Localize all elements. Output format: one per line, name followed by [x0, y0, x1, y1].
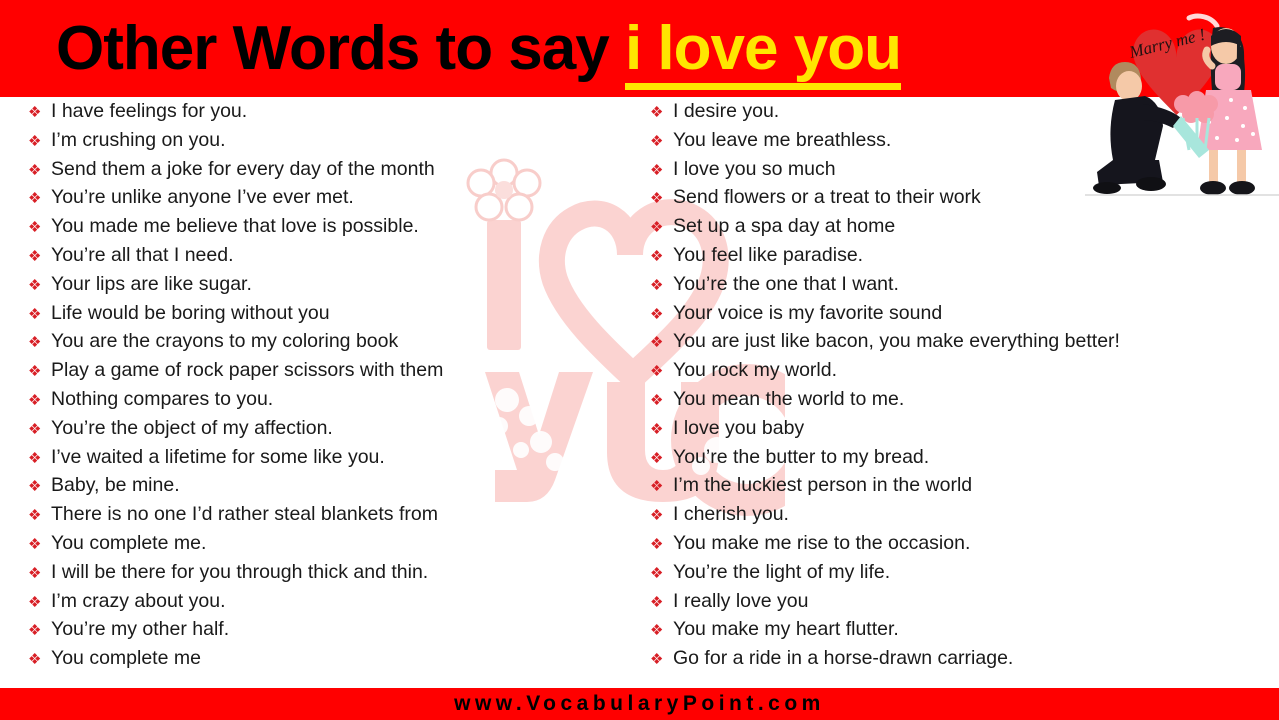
list-item-label: You make me rise to the occasion. [673, 529, 970, 558]
diamond-bullet-icon: ❖ [650, 185, 673, 214]
diamond-bullet-icon: ❖ [650, 99, 673, 128]
list-item-label: I have feelings for you. [51, 97, 247, 126]
list-item[interactable]: ❖You feel like paradise. [650, 241, 1270, 270]
list-item[interactable]: ❖Your voice is my favorite sound [650, 299, 1270, 328]
list-item-label: You are just like bacon, you make everyt… [673, 327, 1120, 356]
diamond-bullet-icon: ❖ [28, 646, 51, 675]
list-item-label: I desire you. [673, 97, 779, 126]
diamond-bullet-icon: ❖ [28, 473, 51, 502]
right-column: ❖I desire you. ❖You leave me breathless.… [650, 97, 1270, 673]
diamond-bullet-icon: ❖ [650, 214, 673, 243]
diamond-bullet-icon: ❖ [650, 473, 673, 502]
list-item-label: There is no one I’d rather steal blanket… [51, 500, 438, 529]
list-item[interactable]: ❖Send flowers or a treat to their work [650, 183, 1270, 212]
list-item-label: You make my heart flutter. [673, 615, 899, 644]
list-item-label: You’re the butter to my bread. [673, 443, 929, 472]
list-item[interactable]: ❖You’re the one that I want. [650, 270, 1270, 299]
list-item[interactable]: ❖I’m crushing on you. [28, 126, 628, 155]
list-item-label: Nothing compares to you. [51, 385, 273, 414]
list-item-label: You’re all that I need. [51, 241, 234, 270]
diamond-bullet-icon: ❖ [650, 243, 673, 272]
list-item[interactable]: ❖I have feelings for you. [28, 97, 628, 126]
list-item[interactable]: ❖Baby, be mine. [28, 471, 628, 500]
list-item[interactable]: ❖You complete me. [28, 529, 628, 558]
diamond-bullet-icon: ❖ [28, 243, 51, 272]
diamond-bullet-icon: ❖ [28, 329, 51, 358]
list-item-label: You are the crayons to my coloring book [51, 327, 398, 356]
list-item-label: I’ve waited a lifetime for some like you… [51, 443, 385, 472]
list-item[interactable]: ❖Go for a ride in a horse-drawn carriage… [650, 644, 1270, 673]
diamond-bullet-icon: ❖ [28, 157, 51, 186]
diamond-bullet-icon: ❖ [650, 531, 673, 560]
list-item-label: I’m the luckiest person in the world [673, 471, 972, 500]
list-item-label: I’m crazy about you. [51, 587, 226, 616]
diamond-bullet-icon: ❖ [28, 416, 51, 445]
left-phrase-list: ❖I have feelings for you. ❖I’m crushing … [28, 97, 628, 673]
diamond-bullet-icon: ❖ [650, 358, 673, 387]
list-item-label: Life would be boring without you [51, 299, 330, 328]
list-item[interactable]: ❖You complete me [28, 644, 628, 673]
diamond-bullet-icon: ❖ [28, 272, 51, 301]
list-item-label: Your voice is my favorite sound [673, 299, 942, 328]
list-item-label: You complete me. [51, 529, 206, 558]
diamond-bullet-icon: ❖ [28, 358, 51, 387]
diamond-bullet-icon: ❖ [650, 301, 673, 330]
poster-page: Other Words to say i love you Marry me ! [0, 0, 1279, 720]
list-item-label: I’m crushing on you. [51, 126, 226, 155]
diamond-bullet-icon: ❖ [28, 387, 51, 416]
diamond-bullet-icon: ❖ [650, 128, 673, 157]
right-phrase-list: ❖I desire you. ❖You leave me breathless.… [650, 97, 1270, 673]
list-item[interactable]: ❖You are the crayons to my coloring book [28, 327, 628, 356]
list-item-label: You mean the world to me. [673, 385, 904, 414]
diamond-bullet-icon: ❖ [28, 301, 51, 330]
list-item-label: Play a game of rock paper scissors with … [51, 356, 443, 385]
list-item[interactable]: ❖I will be there for you through thick a… [28, 558, 628, 587]
diamond-bullet-icon: ❖ [28, 502, 51, 531]
list-item[interactable]: ❖Play a game of rock paper scissors with… [28, 356, 628, 385]
list-item[interactable]: ❖Set up a spa day at home [650, 212, 1270, 241]
list-item-label: You feel like paradise. [673, 241, 863, 270]
list-item[interactable]: ❖You rock my world. [650, 356, 1270, 385]
list-item-label: I cherish you. [673, 500, 789, 529]
list-item[interactable]: ❖You mean the world to me. [650, 385, 1270, 414]
list-item[interactable]: ❖You’re my other half. [28, 615, 628, 644]
footer-banner: www.VocabularyPoint.com [0, 688, 1279, 720]
diamond-bullet-icon: ❖ [28, 445, 51, 474]
list-item-label: You’re the light of my life. [673, 558, 890, 587]
page-title-highlight: i love you [625, 17, 901, 90]
diamond-bullet-icon: ❖ [650, 445, 673, 474]
list-item[interactable]: ❖I cherish you. [650, 500, 1270, 529]
diamond-bullet-icon: ❖ [650, 329, 673, 358]
list-item-label: I will be there for you through thick an… [51, 558, 428, 587]
list-item[interactable]: ❖Life would be boring without you [28, 299, 628, 328]
list-item[interactable]: ❖You’re all that I need. [28, 241, 628, 270]
page-title: Other Words to say i love you [56, 6, 901, 92]
diamond-bullet-icon: ❖ [28, 128, 51, 157]
list-item[interactable]: ❖Your lips are like sugar. [28, 270, 628, 299]
list-item-label: You’re the object of my affection. [51, 414, 333, 443]
list-item[interactable]: ❖You leave me breathless. [650, 126, 1270, 155]
list-item-label: You complete me [51, 644, 201, 673]
list-item[interactable]: ❖I really love you [650, 587, 1270, 616]
list-item-label: I love you so much [673, 155, 836, 184]
diamond-bullet-icon: ❖ [28, 214, 51, 243]
list-item[interactable]: ❖You make my heart flutter. [650, 615, 1270, 644]
list-item[interactable]: ❖Send them a joke for every day of the m… [28, 155, 628, 184]
diamond-bullet-icon: ❖ [650, 416, 673, 445]
list-item-label: Send them a joke for every day of the mo… [51, 155, 435, 184]
list-item-label: Baby, be mine. [51, 471, 180, 500]
list-item[interactable]: ❖I love you baby [650, 414, 1270, 443]
list-item[interactable]: ❖I desire you. [650, 97, 1270, 126]
diamond-bullet-icon: ❖ [650, 157, 673, 186]
diamond-bullet-icon: ❖ [650, 502, 673, 531]
list-item-label: You leave me breathless. [673, 126, 891, 155]
diamond-bullet-icon: ❖ [650, 560, 673, 589]
diamond-bullet-icon: ❖ [28, 185, 51, 214]
list-item[interactable]: ❖You’re the light of my life. [650, 558, 1270, 587]
diamond-bullet-icon: ❖ [28, 99, 51, 128]
list-item[interactable]: ❖You’re unlike anyone I’ve ever met. [28, 183, 628, 212]
list-item-label: You rock my world. [673, 356, 837, 385]
list-item-label: You made me believe that love is possibl… [51, 212, 419, 241]
list-item-label: I really love you [673, 587, 808, 616]
header-banner: Other Words to say i love you [0, 0, 1279, 97]
list-item[interactable]: ❖I’m the luckiest person in the world [650, 471, 1270, 500]
list-item-label: Send flowers or a treat to their work [673, 183, 981, 212]
diamond-bullet-icon: ❖ [650, 617, 673, 646]
list-item[interactable]: ❖You’re the object of my affection. [28, 414, 628, 443]
list-item-label: You’re unlike anyone I’ve ever met. [51, 183, 354, 212]
list-item[interactable]: ❖You make me rise to the occasion. [650, 529, 1270, 558]
list-item[interactable]: ❖I love you so much [650, 155, 1270, 184]
list-item-label: Set up a spa day at home [673, 212, 895, 241]
list-item[interactable]: ❖There is no one I’d rather steal blanke… [28, 500, 628, 529]
list-item-label: Go for a ride in a horse-drawn carriage. [673, 644, 1013, 673]
list-item[interactable]: ❖I’ve waited a lifetime for some like yo… [28, 443, 628, 472]
list-item-label: You’re the one that I want. [673, 270, 899, 299]
website-url[interactable]: www.VocabularyPoint.com [454, 692, 825, 716]
list-item[interactable]: ❖Nothing compares to you. [28, 385, 628, 414]
page-title-prefix: Other Words to say [56, 14, 625, 83]
list-item-label: Your lips are like sugar. [51, 270, 252, 299]
diamond-bullet-icon: ❖ [650, 646, 673, 675]
left-column: ❖I have feelings for you. ❖I’m crushing … [28, 97, 628, 673]
diamond-bullet-icon: ❖ [28, 531, 51, 560]
diamond-bullet-icon: ❖ [650, 272, 673, 301]
list-item[interactable]: ❖I’m crazy about you. [28, 587, 628, 616]
list-item-label: I love you baby [673, 414, 804, 443]
diamond-bullet-icon: ❖ [650, 589, 673, 618]
content-area: ❖I have feelings for you. ❖I’m crushing … [0, 97, 1279, 688]
diamond-bullet-icon: ❖ [28, 589, 51, 618]
list-item-label: You’re my other half. [51, 615, 229, 644]
diamond-bullet-icon: ❖ [650, 387, 673, 416]
list-item[interactable]: ❖You’re the butter to my bread. [650, 443, 1270, 472]
diamond-bullet-icon: ❖ [28, 617, 51, 646]
diamond-bullet-icon: ❖ [28, 560, 51, 589]
list-item[interactable]: ❖You are just like bacon, you make every… [650, 327, 1270, 356]
list-item[interactable]: ❖You made me believe that love is possib… [28, 212, 628, 241]
